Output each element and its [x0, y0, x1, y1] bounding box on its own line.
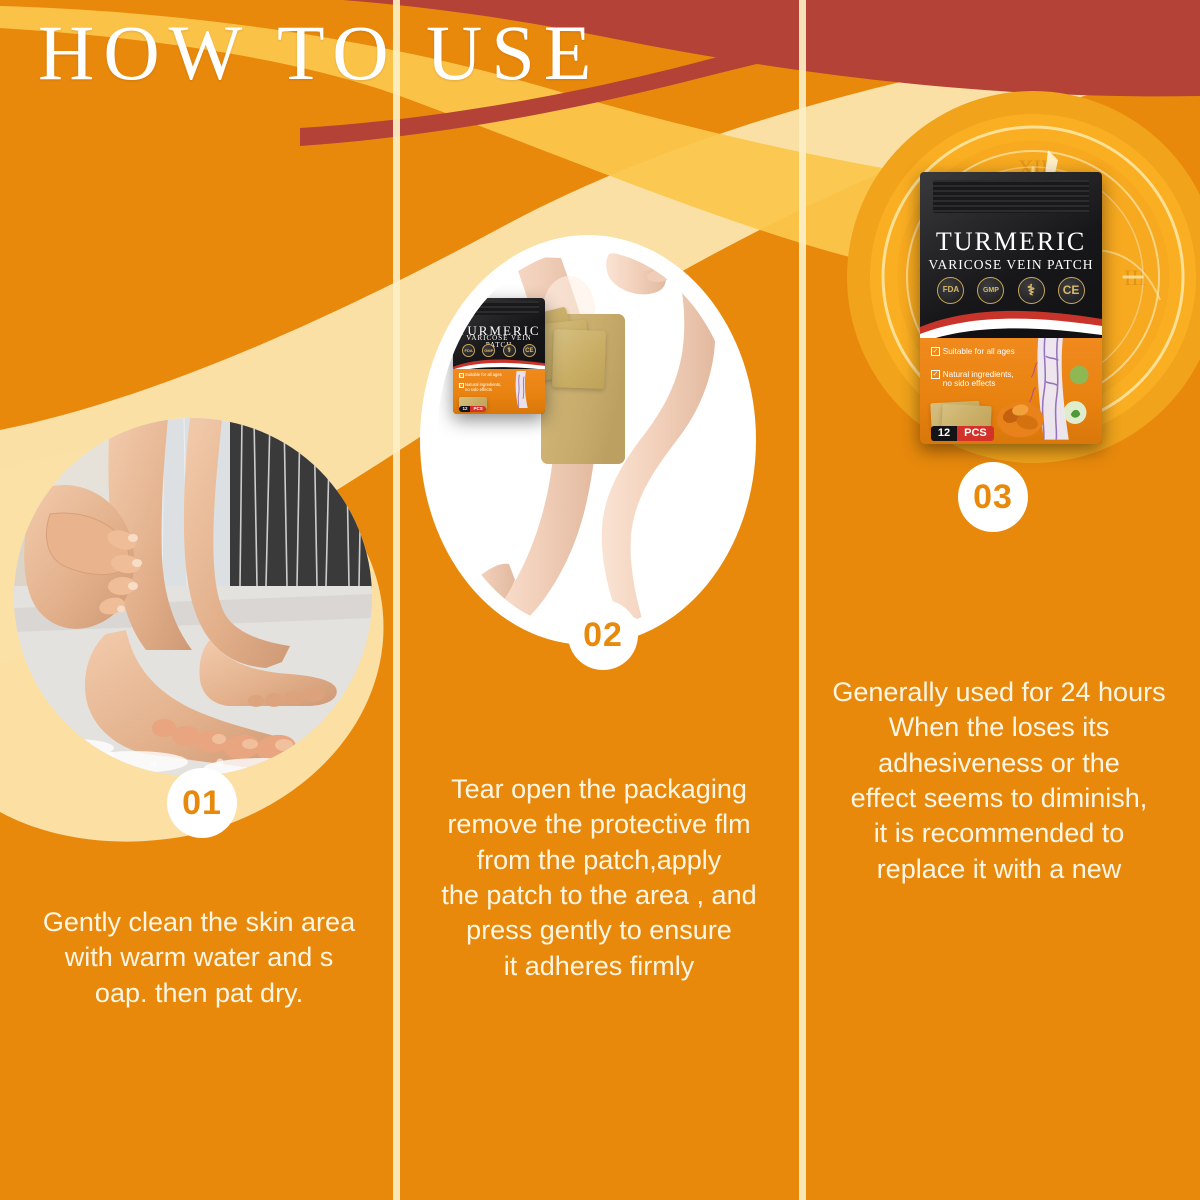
package-zipper	[459, 301, 538, 315]
feet-in-shower-illustration	[14, 418, 372, 776]
check-icon: ✓	[459, 383, 464, 388]
column-divider-2	[799, 0, 806, 1200]
package-subtitle: VARICOSE VEIN PATCH	[920, 258, 1102, 272]
package-vein-graphic-small	[501, 371, 543, 408]
package-claim-2: ✓ Natural ingredients, no sido effects	[931, 370, 1014, 388]
step-number-badge-2: 02	[568, 600, 638, 670]
infographic-canvas: XII III VI IX HOW TO USE	[0, 0, 1200, 1200]
column-divider-1	[393, 0, 400, 1200]
check-icon: ✓	[931, 370, 940, 379]
step-3-caption: Generally used for 24 hours When the los…	[800, 675, 1198, 887]
check-icon: ✓	[459, 373, 464, 378]
package-claim-2-small: ✓ Natural ingredients, no sido effects	[459, 383, 502, 392]
package-brand: TURMERIC	[920, 229, 1102, 255]
badge-caduceus: ⚕	[1018, 277, 1045, 304]
claim-text: Suitable for all ages	[465, 373, 502, 378]
step-number-badge-1: 01	[167, 768, 237, 838]
package-claim-1-small: ✓ Suitable for all ages	[459, 373, 502, 378]
step-number-badge-3: 03	[958, 462, 1028, 532]
step-1-caption: Gently clean the skin area with warm wat…	[6, 905, 392, 1011]
package-badges: FDA GMP ⚕ CE	[931, 277, 1091, 304]
page-title: HOW TO USE	[38, 8, 600, 98]
package-zipper	[933, 180, 1090, 213]
step-1-photo	[14, 418, 372, 776]
count-unit: PCS	[957, 426, 994, 441]
step-2-caption: Tear open the packaging remove the prote…	[404, 772, 794, 984]
package-lower: ✓ Suitable for all ages ✓ Natural ingred…	[920, 338, 1102, 444]
package-lower-small: ✓ Suitable for all ages ✓ Natural ingred…	[453, 369, 545, 414]
turmeric-root-graphic	[993, 397, 1048, 439]
count-unit: PCS	[470, 406, 485, 413]
product-package-large: TURMERIC VARICOSE VEIN PATCH FDA GMP ⚕ C…	[920, 172, 1102, 444]
count-number: 12	[459, 406, 470, 413]
check-icon: ✓	[931, 347, 940, 356]
badge-gmp: GMP	[977, 277, 1004, 304]
badge-ce: CE	[1058, 277, 1085, 304]
package-claim-1: ✓ Suitable for all ages	[931, 347, 1015, 356]
package-count: 12 PCS	[931, 426, 994, 441]
badge-fda: FDA	[937, 277, 964, 304]
claim-text: Natural ingredients, no sido effects	[465, 383, 501, 392]
count-number: 12	[931, 426, 957, 441]
package-count-small: 12 PCS	[459, 406, 485, 413]
loose-patch-3	[552, 329, 606, 389]
product-package-small: TURMERIC VARICOSE VEIN PATCH FDA GMP ⚕ C…	[453, 298, 545, 414]
step-2-photo: TURMERIC VARICOSE VEIN PATCH FDA GMP ⚕ C…	[437, 250, 737, 630]
